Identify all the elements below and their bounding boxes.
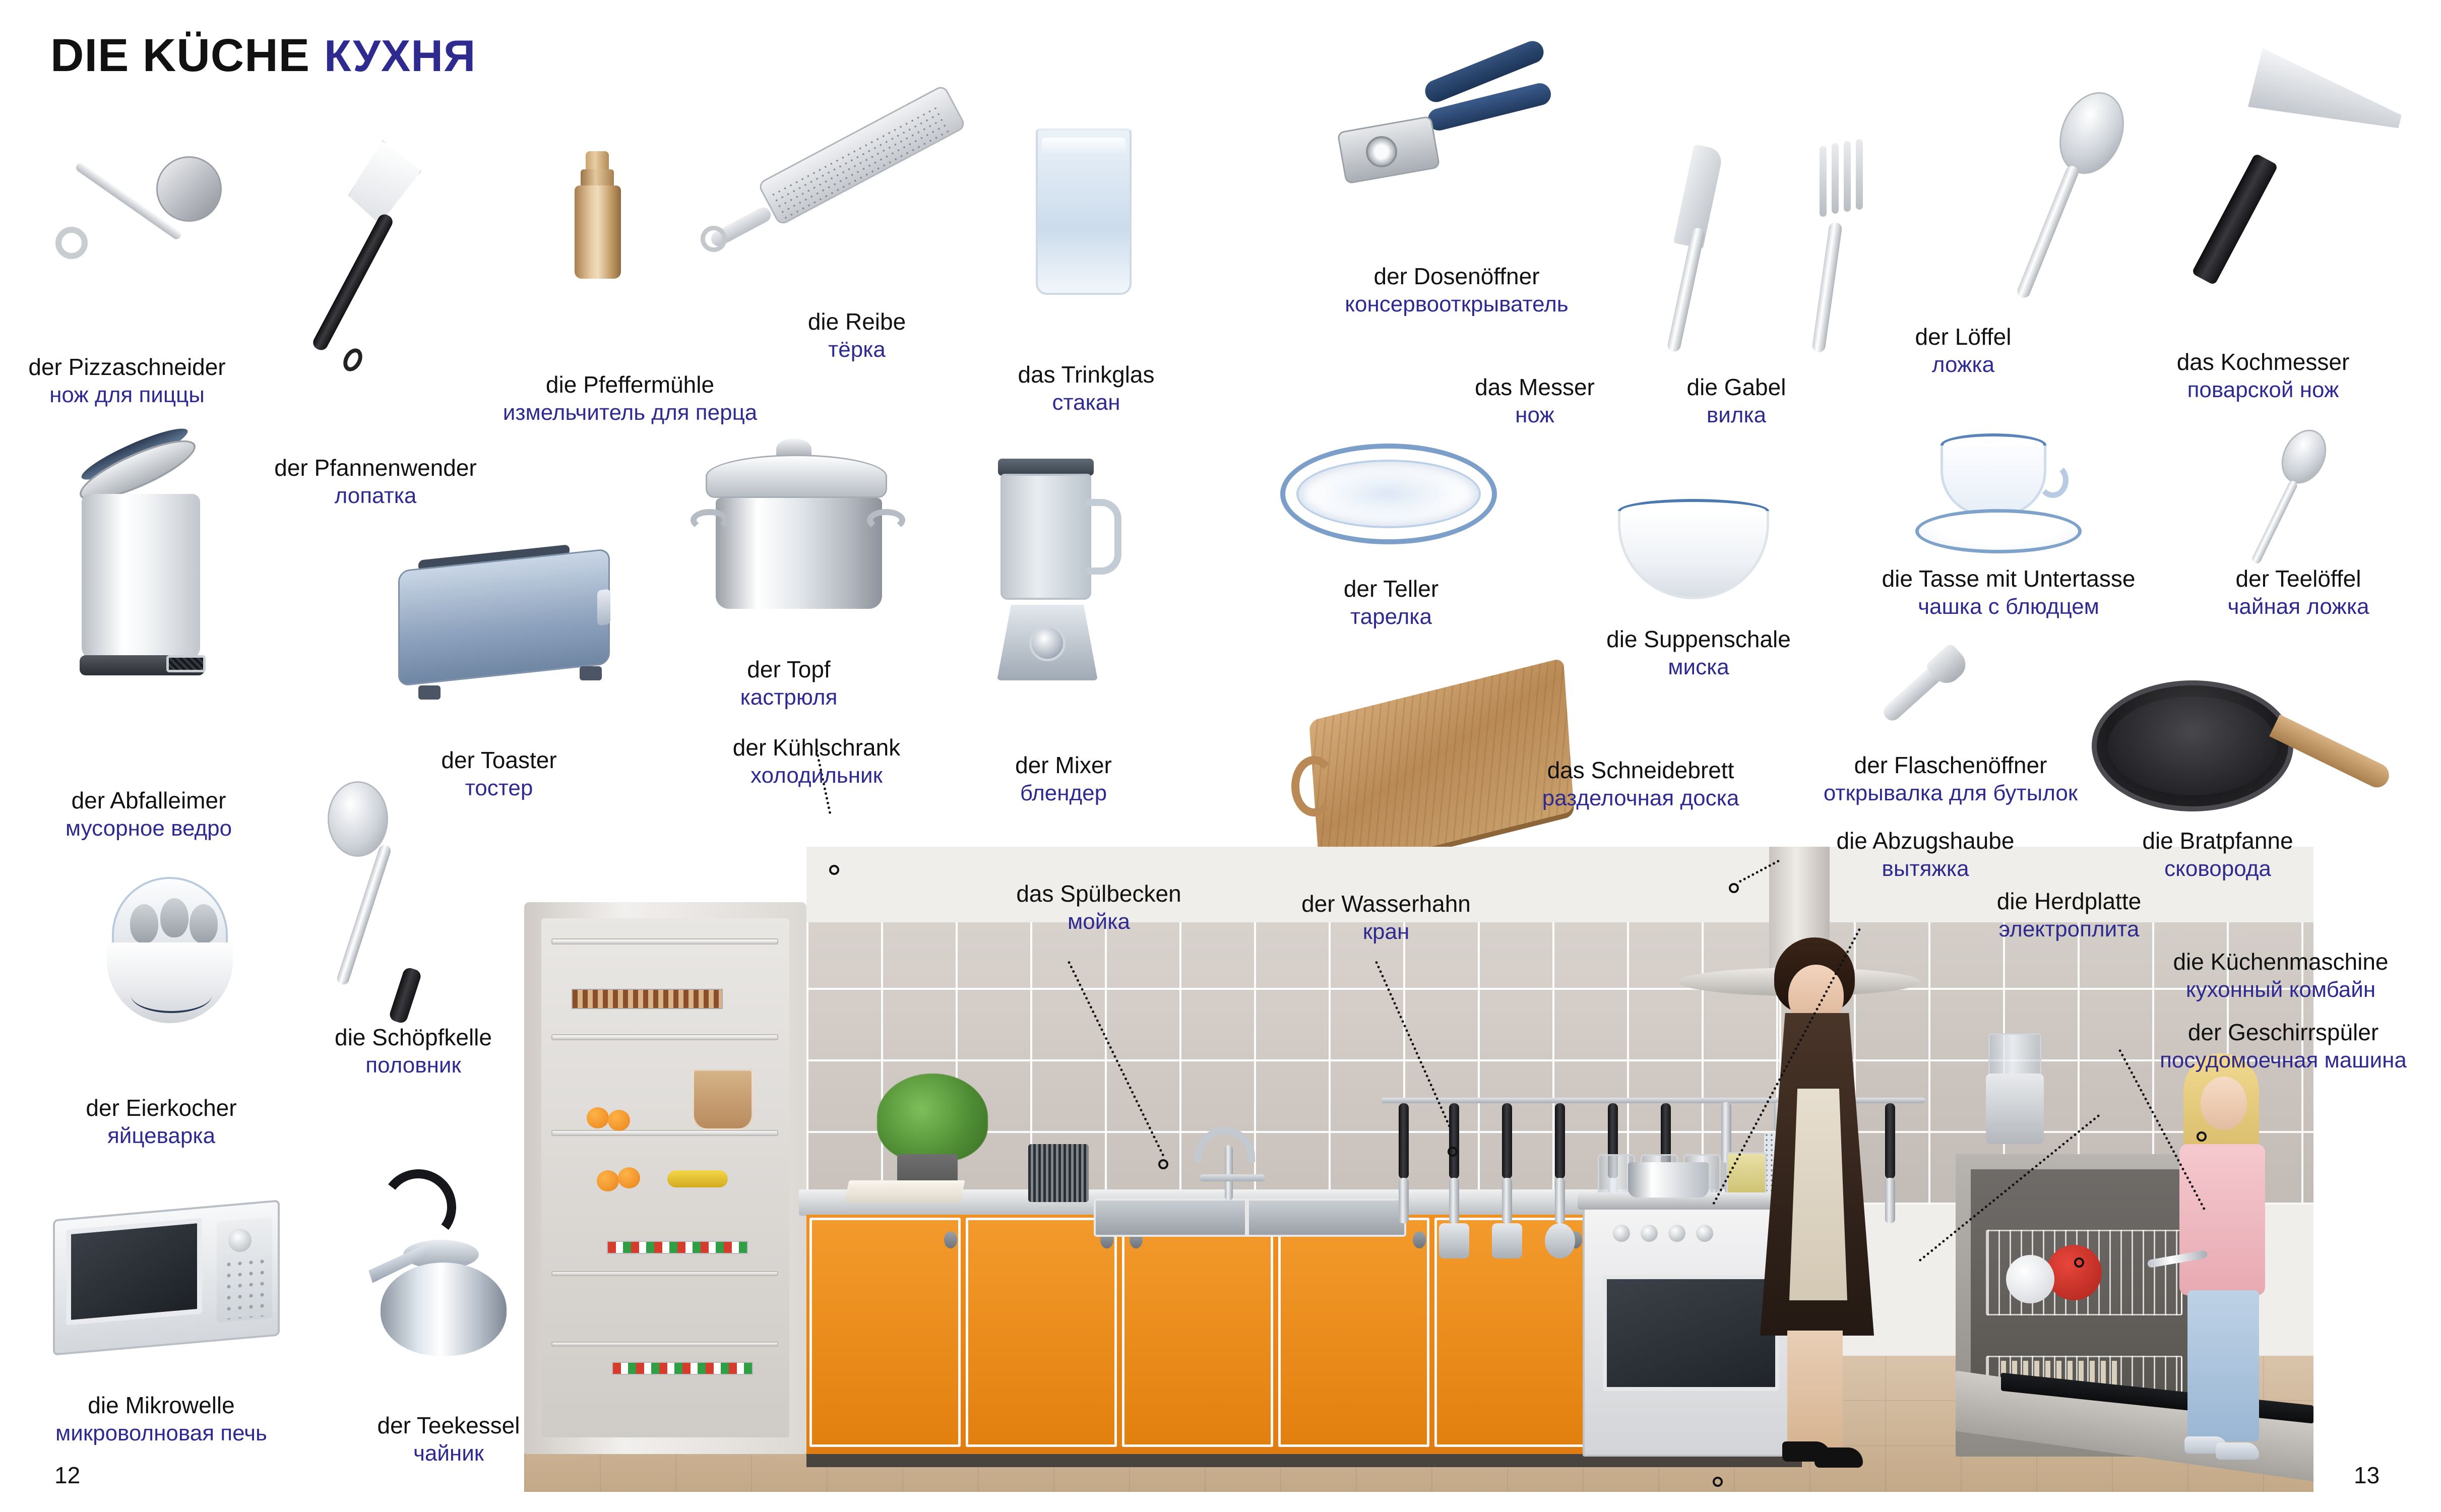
label-ru: микроволновая печь bbox=[20, 1420, 302, 1447]
chef-knife-illustration bbox=[2182, 66, 2414, 328]
label-ru: посудомоечная машина bbox=[2152, 1047, 2414, 1075]
drinking-glass-illustration bbox=[1036, 129, 1137, 300]
label-ru: стакан bbox=[993, 389, 1179, 417]
label-teller: der Teller тарелка bbox=[1305, 575, 1477, 631]
microwave-illustration bbox=[48, 1200, 300, 1366]
page-number-left: 12 bbox=[54, 1462, 80, 1489]
label-ru: кран bbox=[1275, 918, 1497, 946]
title-russian: КУХНЯ bbox=[324, 30, 476, 82]
grater-illustration bbox=[701, 126, 983, 307]
label-mikrowelle: die Mikrowelle микроволновая печь bbox=[20, 1391, 302, 1447]
hanging-utensil bbox=[1555, 1103, 1565, 1258]
label-ru: вытяжка bbox=[1804, 855, 2046, 883]
label-ru: лопатка bbox=[257, 482, 494, 510]
label-de: die Küchenmaschine bbox=[2132, 948, 2429, 976]
label-ru: нож для пиццы bbox=[11, 382, 243, 409]
stove-knob[interactable] bbox=[1696, 1225, 1713, 1242]
label-flaschenoeffner: der Flaschenöffner открывалка для бутыло… bbox=[1794, 751, 2107, 807]
label-de: der Löffel bbox=[1880, 323, 2046, 351]
label-bratpfanne: die Bratpfanne сковорода bbox=[2107, 827, 2329, 883]
label-teekessel: der Teekessel чайник bbox=[343, 1411, 554, 1468]
stove-knob[interactable] bbox=[1668, 1225, 1685, 1242]
label-de: der Pizzaschneider bbox=[11, 353, 243, 382]
label-spuelbecken: das Spülbecken мойка bbox=[988, 879, 1210, 936]
label-de: das Kochmesser bbox=[2132, 348, 2394, 376]
label-kuehlschrank: der Kühlschrank холодильник bbox=[706, 733, 927, 790]
page-title: DIE KÜCHEКУХНЯ bbox=[50, 29, 476, 82]
label-ru: измельчитель для перца bbox=[454, 399, 806, 427]
page-number-right: 13 bbox=[2354, 1462, 2380, 1489]
label-ru: блендер bbox=[983, 780, 1144, 807]
refrigerator-interior bbox=[541, 918, 789, 1437]
open-cookbook bbox=[844, 1180, 965, 1203]
label-gabel: die Gabel вилка bbox=[1653, 373, 1820, 429]
label-abzugshaube: die Abzugshaube вытяжка bbox=[1804, 827, 2046, 883]
label-dosenoeffner: der Dosenöffner консервооткрыватель bbox=[1270, 262, 1643, 319]
label-ru: сковорода bbox=[2107, 855, 2329, 883]
label-mixer: der Mixer блендер bbox=[983, 751, 1144, 807]
label-de: die Gabel bbox=[1653, 373, 1820, 402]
label-toaster: der Toaster тостер bbox=[408, 746, 590, 802]
cup-and-saucer-illustration bbox=[1910, 433, 2092, 564]
label-ru: половник bbox=[312, 1052, 514, 1080]
spoon-illustration bbox=[1996, 91, 2127, 312]
callout-dot-kuehlschrank bbox=[829, 865, 839, 875]
stove-knob[interactable] bbox=[1613, 1225, 1630, 1242]
potted-herb-plant bbox=[877, 1074, 988, 1162]
pizza-cutter-illustration bbox=[55, 151, 247, 292]
cabinet-door[interactable] bbox=[809, 1218, 961, 1447]
label-eierkocher: der Eierkocher яйцеварка bbox=[60, 1094, 262, 1150]
label-kuechenmaschine: die Küchenmaschine кухонный комбайн bbox=[2132, 948, 2429, 1004]
label-schneidebrett: das Schneidebrett разделочная доска bbox=[1497, 756, 1784, 812]
label-kochmesser: das Kochmesser поварской нож bbox=[2132, 348, 2394, 404]
label-de: die Reibe bbox=[771, 307, 943, 336]
label-de: der Wasserhahn bbox=[1275, 890, 1497, 918]
label-ru: тостер bbox=[408, 775, 590, 802]
label-pfannenwender: der Pfannenwender лопатка bbox=[257, 454, 494, 510]
ladle-illustration bbox=[312, 781, 449, 1033]
label-messer: das Messer нож bbox=[1442, 373, 1628, 429]
label-trinkglas: das Trinkglas стакан bbox=[993, 360, 1179, 417]
label-loeffel: der Löffel ложка bbox=[1880, 323, 2046, 379]
callout-dot-wasserhahn bbox=[1448, 1147, 1458, 1157]
toaster-illustration bbox=[388, 534, 625, 701]
cabinet-door[interactable] bbox=[1122, 1218, 1273, 1447]
blender-illustration bbox=[988, 459, 1134, 721]
label-ru: чайник bbox=[343, 1440, 554, 1468]
label-schoepfkelle: die Schöpfkelle половник bbox=[312, 1023, 514, 1080]
label-de: die Bratpfanne bbox=[2107, 827, 2329, 855]
label-ru: поварской нож bbox=[2132, 376, 2394, 404]
label-ru: открывалка для бутылок bbox=[1794, 780, 2107, 807]
label-tasse: die Tasse mit Untertasse чашка с блюдцем bbox=[1840, 564, 2177, 621]
label-de: der Teller bbox=[1305, 575, 1477, 603]
label-ru: вилка bbox=[1653, 402, 1820, 429]
label-teeloeffel: der Teelöffel чайная ложка bbox=[2187, 564, 2409, 621]
label-ru: мойка bbox=[988, 908, 1210, 936]
teaspoon-illustration bbox=[2228, 428, 2344, 580]
faucet-column bbox=[1225, 1145, 1233, 1201]
pepper-mill-illustration bbox=[575, 151, 655, 353]
hanging-utensil bbox=[1502, 1103, 1512, 1258]
label-geschirrspueler: der Geschirrspüler посудомоечная машина bbox=[2152, 1018, 2414, 1075]
soup-bowl-illustration bbox=[1618, 499, 1779, 620]
label-ru: холодильник bbox=[706, 762, 927, 790]
callout-dot-spuelbecken bbox=[1158, 1159, 1168, 1169]
label-de: der Pfannenwender bbox=[257, 454, 494, 482]
label-de: die Tasse mit Untertasse bbox=[1840, 564, 2177, 593]
label-de: die Herdplatte bbox=[1956, 887, 2182, 916]
callout-dot-kuechenmaschine bbox=[2197, 1131, 2207, 1142]
label-de: der Teekessel bbox=[343, 1411, 554, 1440]
label-de: das Schneidebrett bbox=[1497, 756, 1784, 785]
label-ru: ложка bbox=[1880, 351, 2046, 379]
plate-illustration bbox=[1280, 444, 1507, 554]
can-opener-illustration bbox=[1310, 40, 1593, 212]
label-de: der Mixer bbox=[983, 751, 1144, 780]
picture-dictionary-page: DIE KÜCHEКУХНЯ bbox=[0, 0, 2441, 1512]
callout-dot-abzugshaube bbox=[1729, 883, 1739, 893]
saucepan-on-stove bbox=[1628, 1162, 1709, 1198]
kitchen-sink bbox=[1094, 1199, 1406, 1237]
label-de: die Schöpfkelle bbox=[312, 1023, 514, 1052]
label-ru: электроплита bbox=[1956, 916, 2182, 943]
hanging-utensil bbox=[1885, 1103, 1895, 1223]
label-de: der Toaster bbox=[408, 746, 590, 775]
stove-knob[interactable] bbox=[1641, 1225, 1658, 1242]
egg-boiler-illustration bbox=[101, 877, 252, 1068]
label-de: der Topf bbox=[706, 655, 872, 684]
label-de: der Flaschenöffner bbox=[1794, 751, 2107, 780]
girl-figure bbox=[2157, 1053, 2283, 1457]
label-ru: чайная ложка bbox=[2187, 593, 2409, 621]
title-german: DIE KÜCHE bbox=[50, 29, 310, 82]
label-de: der Abfalleimer bbox=[40, 786, 257, 815]
food-processor-base bbox=[1986, 1074, 2044, 1144]
cabinet-door[interactable] bbox=[966, 1218, 1117, 1447]
label-ru: кастрюля bbox=[706, 684, 872, 712]
label-de: das Messer bbox=[1442, 373, 1628, 402]
label-de: der Teelöffel bbox=[2187, 564, 2409, 593]
hanging-utensil bbox=[1399, 1103, 1409, 1223]
label-de: der Kühlschrank bbox=[706, 733, 927, 762]
label-ru: яйцеварка bbox=[60, 1122, 262, 1150]
label-wasserhahn: der Wasserhahn кран bbox=[1275, 890, 1497, 946]
pot-illustration bbox=[691, 438, 912, 640]
table-knife-illustration bbox=[1643, 146, 1744, 358]
sink-divider bbox=[1245, 1201, 1249, 1235]
label-de: der Dosenöffner bbox=[1270, 262, 1643, 291]
label-de: die Abzugshaube bbox=[1804, 827, 2046, 855]
label-herdplatte: die Herdplatte электроплита bbox=[1956, 887, 2182, 943]
label-abfalleimer: der Abfalleimer мусорное ведро bbox=[40, 786, 257, 843]
label-de: der Geschirrspüler bbox=[2152, 1018, 2414, 1047]
utensil-crock bbox=[1028, 1144, 1089, 1202]
faucet-lever[interactable] bbox=[1200, 1174, 1265, 1181]
cabinet-door[interactable] bbox=[1278, 1218, 1429, 1447]
label-ru: тёрка bbox=[771, 336, 943, 364]
label-suppenschale: die Suppenschale миска bbox=[1578, 625, 1820, 681]
label-topf: der Topf кастрюля bbox=[706, 655, 872, 712]
label-reibe: die Reibe тёрка bbox=[771, 307, 943, 364]
label-ru: консервооткрыватель bbox=[1270, 291, 1643, 319]
label-pfeffermuehle: die Pfeffermühle измельчитель для перца bbox=[454, 370, 806, 427]
label-ru: тарелка bbox=[1305, 603, 1477, 631]
label-ru: разделочная доска bbox=[1497, 785, 1784, 812]
callout-dot-geschirrspueler bbox=[2074, 1257, 2084, 1268]
label-ru: кухонный комбайн bbox=[2132, 976, 2429, 1004]
label-de: das Spülbecken bbox=[988, 879, 1210, 908]
label-ru: нож bbox=[1442, 402, 1628, 429]
label-ru: миска bbox=[1578, 654, 1820, 681]
spatula-illustration bbox=[302, 146, 464, 388]
label-ru: чашка с блюдцем bbox=[1840, 593, 2177, 621]
label-pizzaschneider: der Pizzaschneider нож для пиццы bbox=[11, 353, 243, 409]
trash-bin-illustration bbox=[60, 438, 227, 731]
label-de: die Mikrowelle bbox=[20, 1391, 302, 1420]
label-de: die Suppenschale bbox=[1578, 625, 1820, 654]
label-de: die Pfeffermühle bbox=[454, 370, 806, 399]
label-ru: мусорное ведро bbox=[40, 815, 257, 843]
callout-dot-herdplatte bbox=[1713, 1477, 1723, 1487]
label-de: der Eierkocher bbox=[60, 1094, 262, 1122]
label-de: das Trinkglas bbox=[993, 360, 1179, 389]
